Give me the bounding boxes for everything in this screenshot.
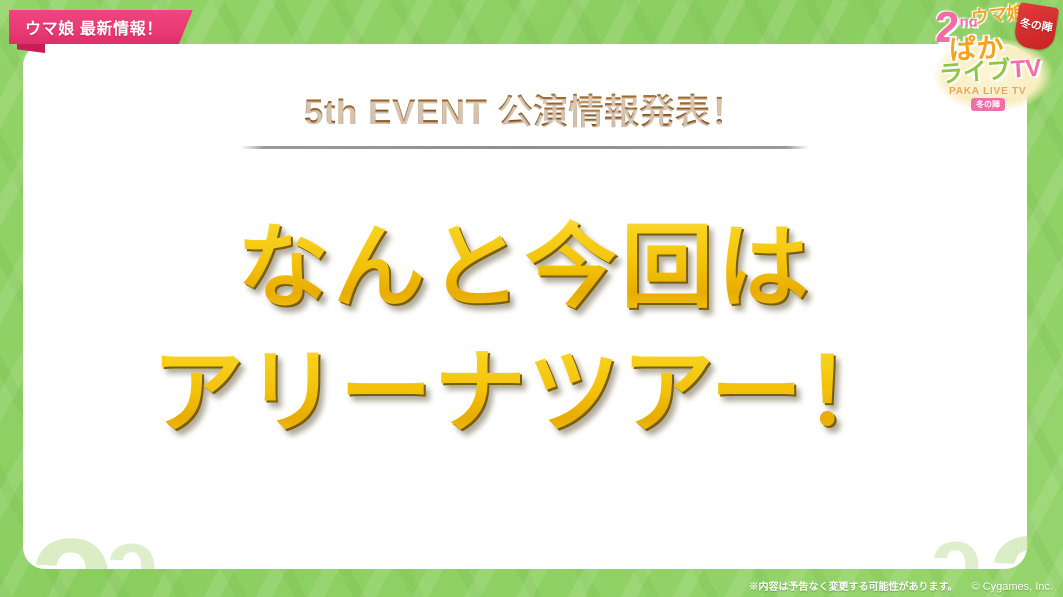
footer-disclaimer: ※内容は予告なく変更する可能性があります。 [749,578,958,593]
footer-copyright: © Cygames, Inc. [972,581,1053,593]
title-block: 5th EVENT 公演情報発表！ [23,84,1027,149]
broadcast-slide: ɔ ɔ ɔ ɔ 5th EVENT 公演情報発表！ なんと今回は アリーナツアー… [0,0,1063,597]
headline-line-2: アリーナツアー！ [23,335,1027,450]
logo-season-suffix: nd [959,13,977,30]
logo-ribbon-label: 冬の陣 [1019,19,1053,36]
title-divider [241,146,809,149]
hoof-decoration-icon: ɔ [107,516,158,569]
content-panel: ɔ ɔ ɔ ɔ 5th EVENT 公演情報発表！ なんと今回は アリーナツアー… [23,44,1027,569]
headline-line-1: なんと今回は [23,210,1027,325]
news-banner-body: ウマ娘 最新情報！ [9,10,193,44]
headline-block: なんと今回は アリーナツアー！ [23,210,1027,450]
logo-franchise-name: ウマ娘 [970,3,1026,27]
hoof-decoration-icon: ɔ [931,514,982,569]
page-title: 5th EVENT 公演情報発表！ [23,84,1027,135]
footer-notice: ※内容は予告なく変更する可能性があります。 © Cygames, Inc. [749,578,1053,593]
logo-ribbon-badge: 冬の陣 [1013,2,1059,52]
news-banner-label: ウマ娘 最新情報！ [25,15,163,39]
hoof-decoration-icon: ɔ [989,490,1027,569]
hoof-decoration-icon: ɔ [31,492,114,569]
news-banner: ウマ娘 最新情報！ [9,10,193,44]
